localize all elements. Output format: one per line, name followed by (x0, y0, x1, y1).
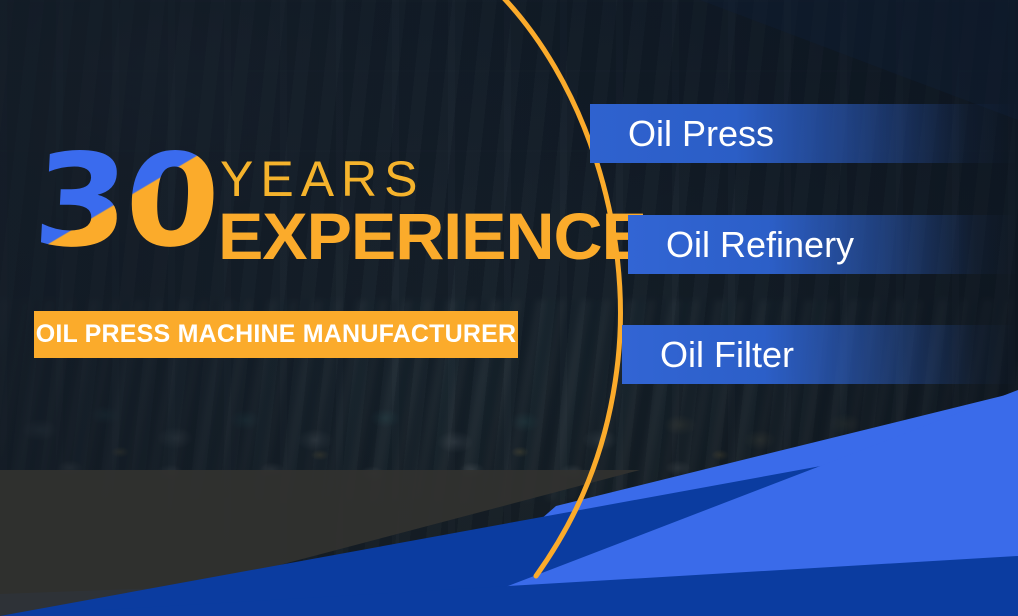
product-bar-oil-press[interactable]: Oil Press (590, 104, 1018, 163)
product-bar-oil-refinery[interactable]: Oil Refinery (628, 215, 1018, 274)
product-list: Oil Press Oil Refinery Oil Filter (0, 0, 1018, 616)
promo-banner: 30 YEARS EXPERIENCE OIL PRESS MACHINE MA… (0, 0, 1018, 616)
product-bar-oil-filter[interactable]: Oil Filter (622, 325, 1018, 384)
